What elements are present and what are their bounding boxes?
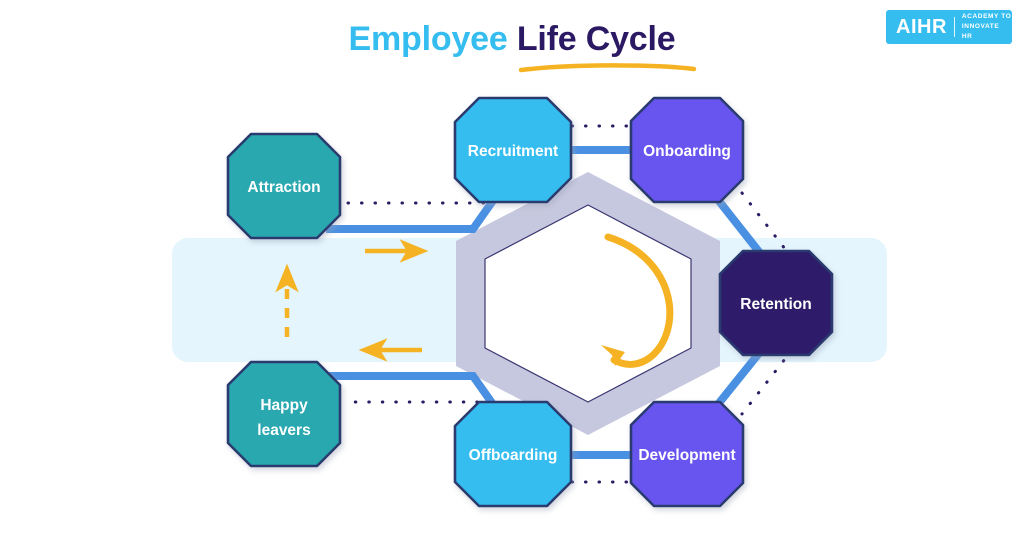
node-label-recruitment: Recruitment [468, 143, 558, 160]
node-attraction[interactable]: Attraction [228, 134, 340, 238]
aihr-logo[interactable]: AIHR ACADEMY TO INNOVATE HR [886, 10, 1012, 44]
node-retention[interactable]: Retention [720, 251, 832, 355]
page-title: Employee Life Cycle [0, 20, 1024, 59]
node-onboarding[interactable]: Onboarding [631, 98, 743, 202]
logo-tagline-line1: ACADEMY TO [962, 12, 1012, 22]
logo-tagline: ACADEMY TO INNOVATE HR [962, 12, 1012, 41]
node-label-onboarding: Onboarding [643, 143, 731, 160]
center-hexagon [456, 172, 720, 435]
node-happy-leavers[interactable]: Happy leavers [228, 362, 340, 466]
node-label-attraction: Attraction [247, 179, 320, 196]
employee-life-cycle-diagram: Attraction Recruitment Onboarding Retent… [0, 0, 1024, 535]
node-label-retention: Retention [740, 296, 811, 313]
page-title-part1: Employee [349, 20, 517, 58]
diagram-canvas: Attraction Recruitment Onboarding Retent… [0, 0, 1024, 535]
node-label-offboarding: Offboarding [469, 447, 558, 464]
page-title-part2: Life Cycle [517, 20, 676, 58]
node-development[interactable]: Development [631, 402, 743, 506]
logo-wordmark: AIHR [886, 17, 947, 37]
node-label-happy-leavers-line2: leavers [257, 422, 310, 439]
node-label-happy-leavers-line1: Happy [260, 397, 308, 414]
node-offboarding[interactable]: Offboarding [455, 402, 571, 506]
node-label-development: Development [638, 447, 735, 464]
logo-divider [954, 17, 955, 37]
title-underline [521, 65, 694, 70]
logo-tagline-line2: INNOVATE HR [962, 22, 1012, 42]
node-recruitment[interactable]: Recruitment [455, 98, 571, 202]
